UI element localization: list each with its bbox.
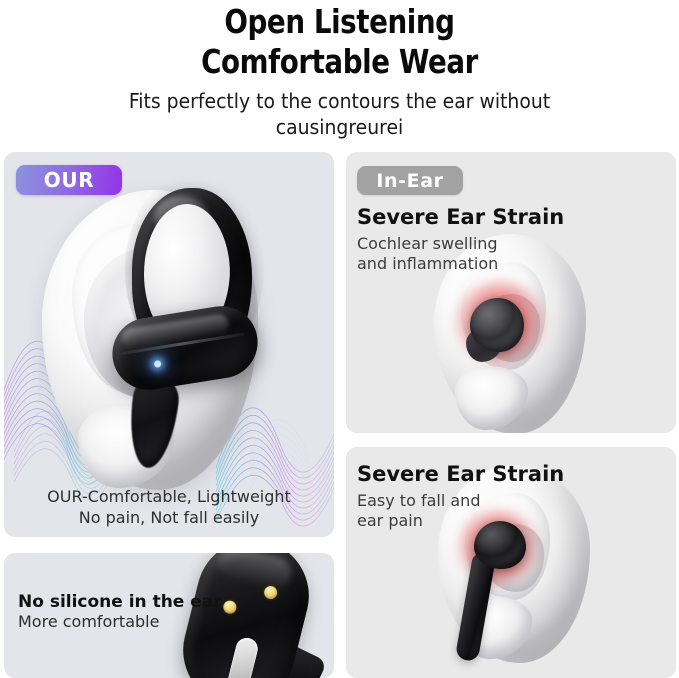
earbud-button <box>226 636 260 678</box>
badge-in-ear-label: In-Ear <box>376 170 443 192</box>
title-line-2: Comfortable Wear <box>54 42 624 82</box>
subtitle-line-1: Fits perfectly to the contours the ear w… <box>20 88 658 114</box>
panel-in-ear: In-Ear Severe Ear Strain Cochlear swelli… <box>346 152 676 433</box>
our-caption-line-1: OUR-Comfortable, Lightweight <box>4 486 334 507</box>
stem-headline: Severe Ear Strain <box>357 461 564 487</box>
in-ear-subtext-line-2: and inflammation <box>357 254 498 274</box>
title-line-1: Open Listening <box>54 2 624 42</box>
stem-subtext-line-2: ear pain <box>357 511 480 531</box>
our-earbud-illustration <box>4 152 334 537</box>
badge-our: OUR <box>16 165 122 195</box>
stem-subtext: Easy to fall and ear pain <box>357 491 480 531</box>
stem-earbud-head <box>474 521 526 569</box>
in-ear-headline: Severe Ear Strain <box>357 204 564 230</box>
badge-our-label: OUR <box>44 168 94 192</box>
led-indicator-icon <box>154 360 162 368</box>
page-title: Open Listening Comfortable Wear <box>54 0 624 82</box>
badge-in-ear: In-Ear <box>357 166 463 195</box>
panel-stem-ear: Severe Ear Strain Easy to fall and ear p… <box>346 447 676 678</box>
stem-subtext-line-1: Easy to fall and <box>357 491 480 511</box>
infographic-page: Open Listening Comfortable Wear Fits per… <box>0 0 679 678</box>
in-ear-subtext: Cochlear swelling and inflammation <box>357 234 498 274</box>
our-caption-line-2: No pain, Not fall easily <box>4 507 334 528</box>
earbud-gloss <box>214 553 294 594</box>
panel-no-silicone: No silicone in the ear More comfortable <box>4 553 334 678</box>
charging-contact-icon <box>222 599 238 615</box>
header: Open Listening Comfortable Wear Fits per… <box>0 0 679 140</box>
ear-hook-gloss <box>154 196 208 236</box>
in-ear-bud-body <box>470 298 524 352</box>
page-subtitle: Fits perfectly to the contours the ear w… <box>20 82 658 140</box>
in-ear-subtext-line-1: Cochlear swelling <box>357 234 498 254</box>
subtitle-line-2: causingreurei <box>20 114 658 140</box>
panel-our-product: OUR OUR-Comfortable, Lightweight No pain… <box>4 152 334 537</box>
our-caption: OUR-Comfortable, Lightweight No pain, No… <box>4 486 334 528</box>
silicone-subline: More comfortable <box>18 612 159 632</box>
